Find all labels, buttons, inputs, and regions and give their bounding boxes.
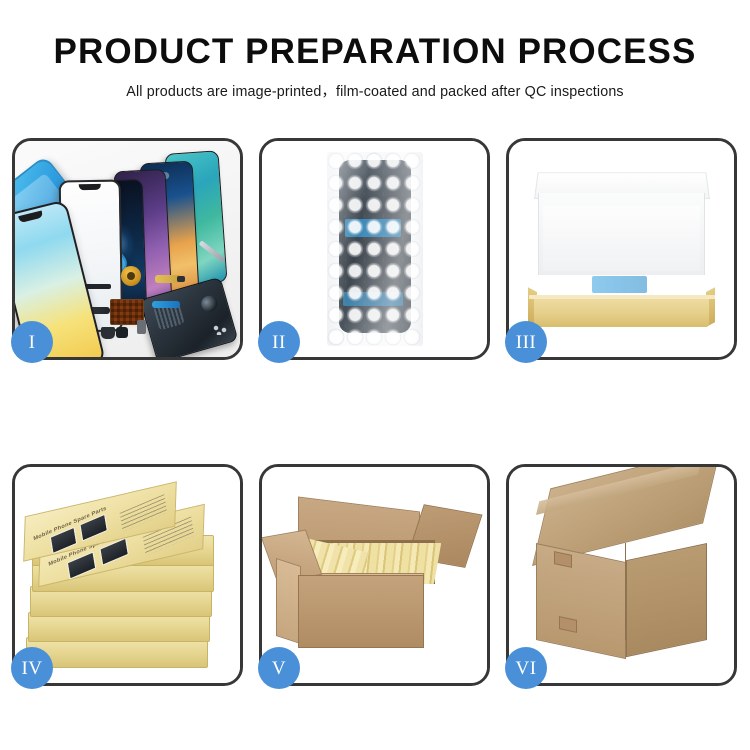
process-step-2[interactable]: II [259,138,490,360]
foam-liner-icon [543,206,701,271]
speaker-module-icon [101,327,115,339]
step-badge-1: I [11,321,53,363]
plastic-sheen-icon [327,152,423,346]
sealed-carton-side-icon [626,543,707,657]
sealed-carton-front-icon [536,543,626,659]
page-subtitle: All products are image-printed，film-coat… [0,80,750,101]
camera-module-icon [116,327,128,338]
step-badge-4: IV [11,647,53,689]
carton-front-icon [298,575,424,648]
process-step-3[interactable]: III [506,138,737,360]
notch-icon [18,211,43,224]
step-1-image [15,141,240,357]
box-stack-icon: Mobile Phone Spare Parts Mobile Phone Sp… [22,486,234,667]
step-badge-6: VI [505,647,547,689]
step-badge-3: III [505,321,547,363]
battery-connector-icon [137,320,146,334]
step-5-image [262,467,487,683]
page-root: PRODUCT PREPARATION PROCESS All products… [0,0,750,750]
blue-flex-cable-icon [152,301,180,308]
process-step-4[interactable]: Mobile Phone Spare Parts Mobile Phone Sp… [12,464,243,686]
box-lid-spec-lines-icon [120,494,168,532]
step-badge-2: II [258,321,300,363]
step-badge-5: V [258,647,300,689]
process-grid: I II III [12,138,738,686]
process-step-6[interactable]: VI [506,464,737,686]
vibration-motor-icon [121,266,141,286]
carton-side-icon [276,558,301,644]
step-2-image [262,141,487,357]
carton-edge-seam-icon [625,543,627,640]
mailer-front-panel-icon [534,297,710,327]
page-header: PRODUCT PREPARATION PROCESS All products… [0,0,750,101]
notch-icon [79,184,101,190]
power-flex-cable-icon [155,275,181,283]
process-step-5[interactable]: V [259,464,490,686]
step-3-image [509,141,734,357]
step-6-image [509,467,734,683]
screws-icon [213,325,231,335]
flex-strip-icon [85,284,111,289]
step-4-image: Mobile Phone Spare Parts Mobile Phone Sp… [15,467,240,683]
page-title: PRODUCT PREPARATION PROCESS [0,34,750,71]
process-step-1[interactable]: I [12,138,243,360]
